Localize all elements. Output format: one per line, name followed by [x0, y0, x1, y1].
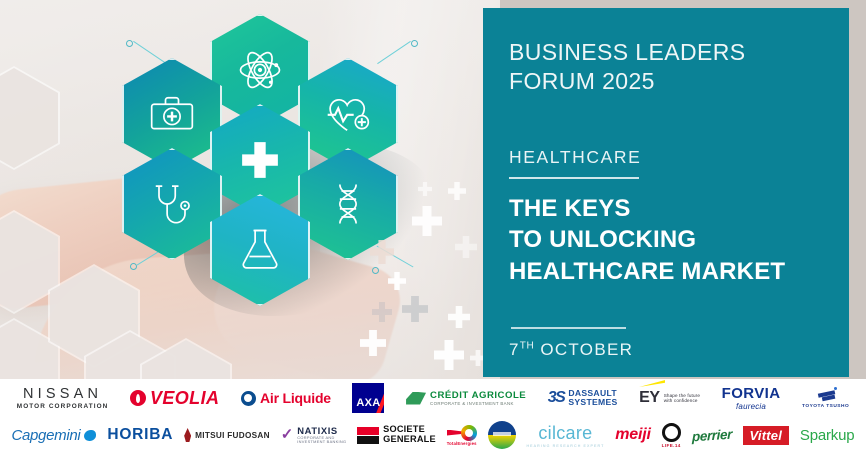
- air-liquide-circle-icon: [241, 391, 256, 406]
- logo-meiji-text: meiji: [615, 426, 650, 444]
- logo-perrier-text: perrier: [692, 426, 732, 444]
- event-date-month: OCTOBER: [540, 340, 633, 359]
- logo-vittel[interactable]: Vittel: [743, 426, 790, 445]
- societe-generale-text-block: SOCIETE GENERALE: [383, 425, 436, 445]
- logo-vittel-text: Vittel: [743, 426, 790, 445]
- logo-forvia-subtext: faurecia: [736, 402, 766, 411]
- logo-cilcare[interactable]: cilcare HEARING RESEARCH EXPERT: [526, 423, 604, 448]
- logo-ey-tagline-line2: with confidence: [664, 398, 700, 403]
- dassault-text-block: DASSAULT SYSTEMES: [568, 389, 617, 407]
- logo-mitsui-fudosan[interactable]: MITSUI FUDOSAN: [184, 428, 270, 442]
- totalenergies-mark-icon: [447, 425, 477, 441]
- logo-horiba[interactable]: HORIBA: [107, 426, 173, 444]
- credit-agricole-text-block: CRÉDIT AGRICOLE CORPORATE & INVESTMENT B…: [430, 390, 526, 406]
- logo-societe-generale[interactable]: SOCIETE GENERALE: [357, 425, 436, 445]
- logo-ey[interactable]: EY Shape the future with confidence: [639, 389, 700, 407]
- logo-forvia-text: FORVIA: [722, 385, 781, 402]
- logo-mitsui-fudosan-text: MITSUI FUDOSAN: [195, 431, 270, 440]
- logo-totalenergies[interactable]: TotalEnergies: [447, 425, 477, 446]
- sponsor-logo-band: NISSAN MOTOR CORPORATION VEOLIA Air Liqu…: [0, 379, 866, 454]
- mitsui-diamond-icon: [184, 428, 191, 442]
- logo-toyota-tsusho-text: TOYOTA TSUSHO: [802, 404, 849, 409]
- hexagon-flask: [210, 194, 310, 306]
- hexagon-stethoscope: [122, 148, 222, 260]
- hexagon-icon-cluster: [110, 14, 410, 324]
- sponsor-row-2: Capgemini HORIBA MITSUI FUDOSAN ✓ NATIXI…: [0, 417, 866, 453]
- ey-mark: EY: [639, 389, 660, 407]
- logo-axa[interactable]: AXA: [352, 383, 384, 413]
- logo-natixis[interactable]: ✓ NATIXIS CORPORATE AND INVESTMENT BANKI…: [281, 426, 347, 444]
- logo-horiba-text: HORIBA: [107, 426, 173, 444]
- logo-nissan[interactable]: NISSAN MOTOR CORPORATION: [17, 386, 109, 410]
- societe-generale-mark-icon: [357, 427, 379, 444]
- logo-forvia[interactable]: FORVIA faurecia: [722, 385, 781, 411]
- logo-totalenergies-text: TotalEnergies: [447, 441, 477, 446]
- event-name-line1: BUSINESS LEADERS: [509, 38, 849, 67]
- logo-sparkup-text: Sparkup: [800, 427, 854, 444]
- ey-tagline: Shape the future with confidence: [664, 393, 700, 403]
- event-date: 7TH OCTOBER: [509, 340, 849, 360]
- logo-nissan-subtext: MOTOR CORPORATION: [17, 403, 109, 410]
- event-date-ordinal: TH: [520, 340, 535, 351]
- life-ring-icon: [662, 423, 681, 442]
- sector-label: HEALTHCARE: [509, 147, 849, 168]
- logo-dassault-systemes[interactable]: 3S DASSAULT SYSTEMES: [548, 389, 618, 407]
- title-panel: BUSINESS LEADERS FORUM 2025 HEALTHCARE T…: [483, 8, 849, 377]
- sponsor-row-1: NISSAN MOTOR CORPORATION VEOLIA Air Liqu…: [0, 379, 866, 417]
- logo-toyota-tsusho[interactable]: TOYOTA TSUSHO: [802, 388, 849, 409]
- page-title-line3: HEALTHCARE MARKET: [509, 256, 849, 287]
- credit-agricole-leaf-icon: [406, 392, 426, 405]
- logo-credit-agricole[interactable]: CRÉDIT AGRICOLE CORPORATE & INVESTMENT B…: [406, 390, 526, 406]
- page-title-line2: TO UNLOCKING: [509, 224, 849, 255]
- veolia-droplet-icon: [130, 390, 146, 406]
- logo-blue-circle-brand[interactable]: [488, 421, 516, 449]
- event-banner: BUSINESS LEADERS FORUM 2025 HEALTHCARE T…: [0, 0, 866, 454]
- toyota-tsusho-mark-icon: [815, 388, 837, 403]
- natixis-check-icon: ✓: [281, 430, 294, 441]
- event-name: BUSINESS LEADERS FORUM 2025: [509, 38, 849, 95]
- capgemini-spark-icon: [84, 430, 96, 441]
- logo-cilcare-text: cilcare: [538, 423, 592, 444]
- logo-capgemini[interactable]: Capgemini: [11, 427, 96, 444]
- logo-axa-text: AXA: [352, 397, 384, 409]
- divider-rule: [509, 177, 639, 179]
- dassault-3ds-mark: 3S: [548, 389, 565, 407]
- logo-ey-text: EY: [639, 389, 660, 406]
- logo-nissan-text: NISSAN: [23, 386, 102, 402]
- logo-perrier[interactable]: perrier: [692, 428, 732, 443]
- logo-life-14-text: LIFE.14: [662, 443, 681, 448]
- logo-air-liquide-text: Air Liquide: [260, 390, 331, 406]
- divider-rule-secondary: [511, 327, 626, 329]
- logo-cilcare-subtext: HEARING RESEARCH EXPERT: [526, 444, 604, 448]
- page-title-line1: THE KEYS: [509, 193, 849, 224]
- event-date-day: 7: [509, 340, 520, 359]
- axa-box: AXA: [352, 383, 384, 413]
- logo-veolia-text: VEOLIA: [150, 388, 219, 409]
- logo-credit-agricole-text: CRÉDIT AGRICOLE: [430, 390, 526, 401]
- hero-photo: [0, 0, 500, 379]
- blue-circle-brand-icon: [488, 421, 516, 449]
- logo-sparkup[interactable]: Sparkup: [800, 427, 854, 444]
- logo-natixis-subtext-line2: INVESTMENT BANKING: [297, 440, 346, 444]
- logo-air-liquide[interactable]: Air Liquide: [241, 390, 331, 406]
- logo-societe-generale-line2: GENERALE: [383, 435, 436, 445]
- page-title: THE KEYS TO UNLOCKING HEALTHCARE MARKET: [509, 193, 849, 287]
- event-name-line2: FORUM 2025: [509, 67, 849, 96]
- logo-life-14[interactable]: LIFE.14: [662, 423, 681, 448]
- logo-meiji[interactable]: meiji: [615, 426, 650, 444]
- natixis-text-block: NATIXIS CORPORATE AND INVESTMENT BANKING: [297, 426, 346, 444]
- logo-veolia[interactable]: VEOLIA: [130, 388, 219, 409]
- logo-credit-agricole-subtext: CORPORATE & INVESTMENT BANK: [430, 401, 526, 406]
- ey-swoosh-icon: [639, 380, 665, 387]
- logo-dassault-line2: SYSTEMES: [568, 398, 617, 407]
- logo-capgemini-text: Capgemini: [11, 427, 80, 444]
